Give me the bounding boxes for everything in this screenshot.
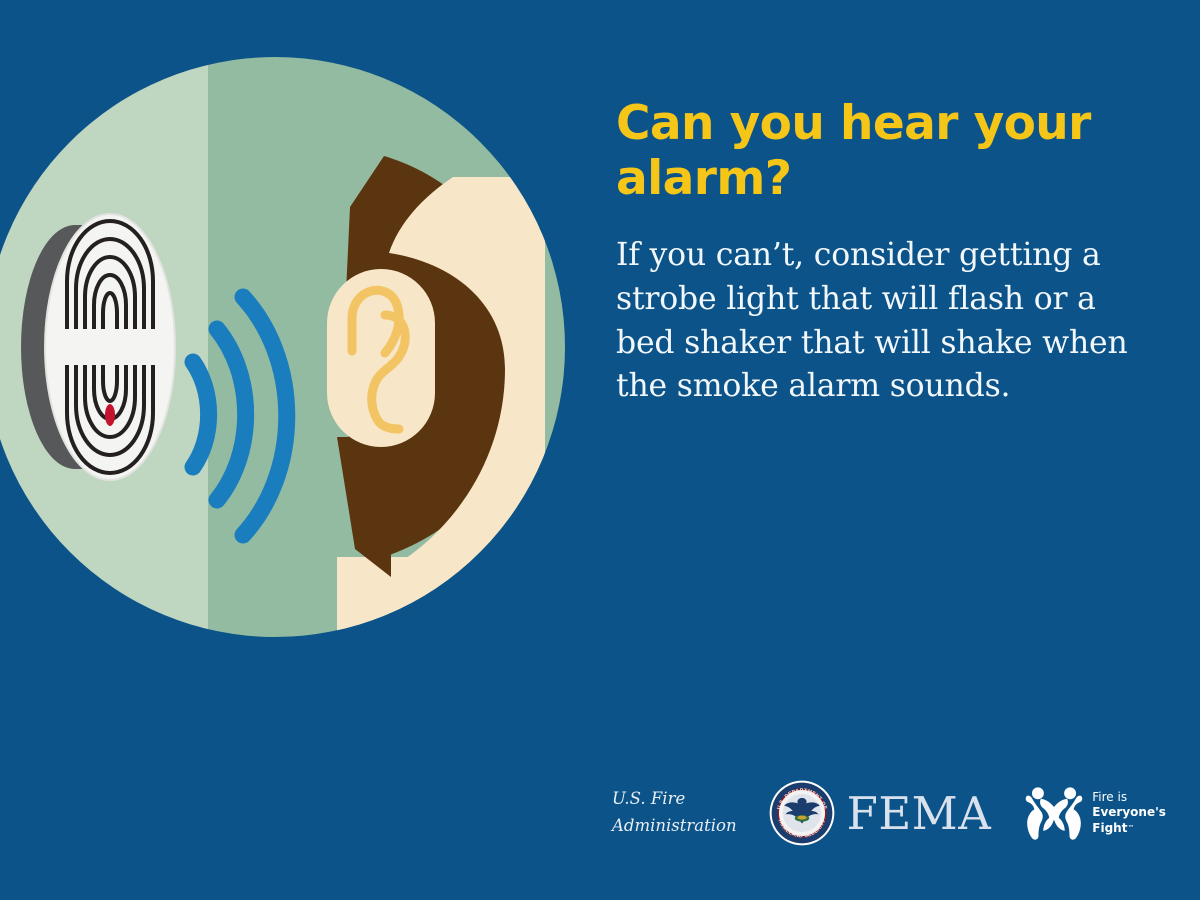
neck-shape xyxy=(337,557,545,637)
illustration-graphic xyxy=(0,57,565,637)
fire-is-everyones-fight-lockup: Fire is Everyone's Fight™ xyxy=(1023,783,1166,843)
feef-line-2: Everyone's xyxy=(1092,805,1166,820)
feef-line-1: Fire is xyxy=(1092,790,1166,805)
usfa-line-2: Administration xyxy=(612,813,737,840)
head-profile xyxy=(327,156,545,637)
three-figures-icon xyxy=(1023,783,1085,843)
fema-wordmark: FEMA xyxy=(847,791,992,836)
text-column: Can you hear your alarm? If you can’t, c… xyxy=(616,96,1156,409)
smoke-alarm xyxy=(21,214,175,480)
body-copy: If you can’t, consider getting a strobe … xyxy=(616,206,1156,409)
feef-tagline: Fire is Everyone's Fight™ xyxy=(1092,790,1166,835)
dhs-seal-icon: U.S. DEPARTMENT OF HOMELAND SECURITY xyxy=(769,780,835,846)
usfa-line-1: U.S. Fire xyxy=(612,786,737,813)
footer-logo-bar: U.S. Fire Administration U.S. DEPAR xyxy=(612,771,1152,855)
usfa-wordmark: U.S. Fire Administration xyxy=(612,786,737,839)
feef-trademark: ™ xyxy=(1127,824,1134,832)
headline: Can you hear your alarm? xyxy=(616,96,1156,206)
poster-canvas: Can you hear your alarm? If you can’t, c… xyxy=(0,0,1200,900)
alarm-led-indicator xyxy=(105,404,115,426)
feef-line-3: Fight xyxy=(1092,821,1127,835)
